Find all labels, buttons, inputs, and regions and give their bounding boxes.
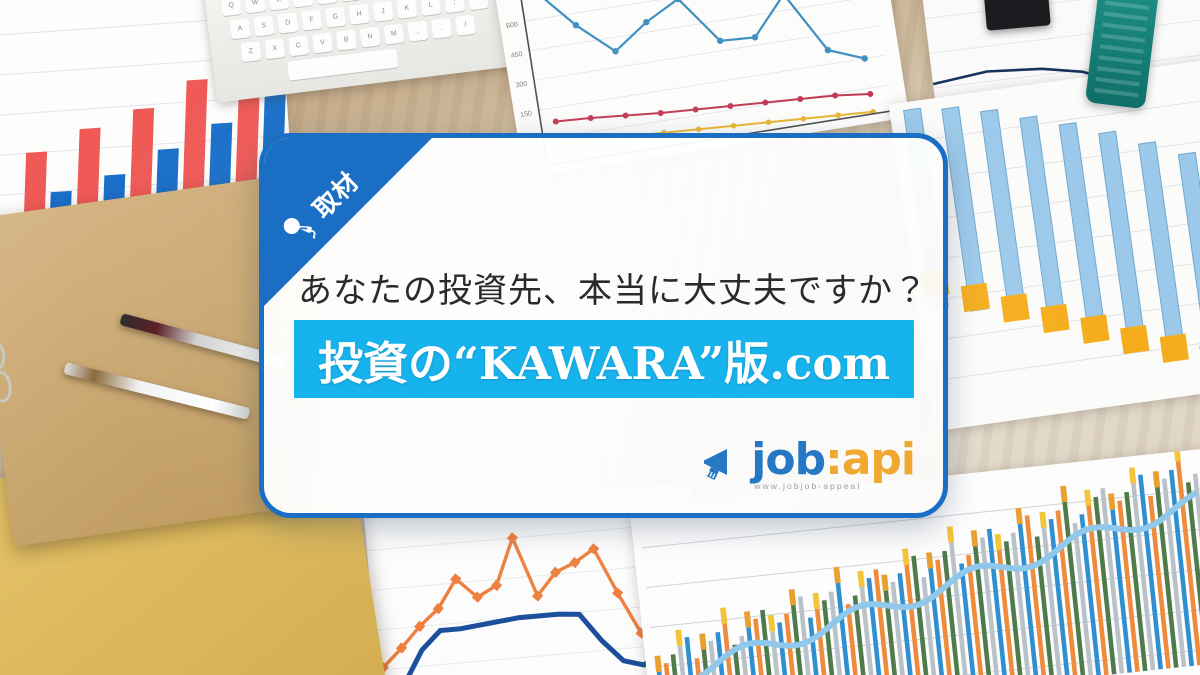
logo-word-separator: : (825, 434, 842, 485)
logo-tagline: www.jobjob-appeal (754, 481, 915, 491)
logo-wordmark: job:api (751, 440, 915, 480)
logo-word-primary: job (751, 434, 825, 485)
svg-text:150: 150 (520, 110, 533, 119)
svg-text:450: 450 (510, 51, 523, 60)
megaphone-icon (700, 446, 742, 484)
brand-logo[interactable]: job:api www.jobjob-appeal (700, 440, 915, 491)
logo-text: job:api www.jobjob-appeal (751, 440, 915, 491)
title-banner: 投資の“KAWARA”版.com (294, 320, 914, 398)
svg-text:300: 300 (515, 81, 528, 90)
svg-text:600: 600 (506, 21, 519, 30)
logo-word-secondary: api (842, 434, 915, 485)
promo-card: 取材 あなたの投資先、本当に大丈夫ですか？ 投資の“KAWARA”版.com (259, 133, 948, 518)
banner-title: 投資の“KAWARA”版.com (318, 327, 890, 392)
headline-text: あなたの投資先、本当に大丈夫ですか？ (298, 263, 910, 312)
promotional-banner: 8月 ~1 23 45 67 89 0- = QW ER TY UI OP [] (0, 0, 1200, 675)
